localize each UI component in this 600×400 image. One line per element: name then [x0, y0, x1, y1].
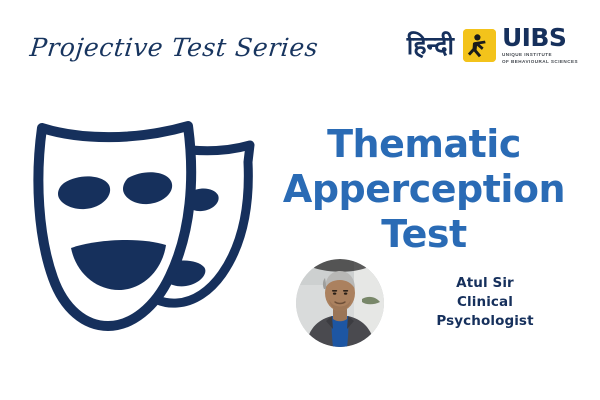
avatar	[296, 259, 384, 347]
presenter-role-line-1: Clinical	[398, 293, 572, 312]
uibs-tagline-line-1: UNIQUE INSTITUTE	[502, 52, 578, 59]
presenter-name: Atul Sir	[398, 274, 572, 293]
uibs-wordmark: UIBS UNIQUE INSTITUTE OF BEHAVIOURAL SCI…	[502, 26, 578, 65]
page-title-line-1: Thematic	[276, 122, 572, 167]
series-title: Projective Test Series	[28, 33, 271, 62]
uibs-tagline-line-2: OF BEHAVIOURAL SCIENCES	[502, 59, 578, 66]
person-figure-icon	[463, 29, 496, 62]
page-title-line-2: Apperception	[276, 167, 572, 212]
page-title: Thematic Apperception Test	[276, 122, 572, 256]
uibs-tagline: UNIQUE INSTITUTE OF BEHAVIOURAL SCIENCES	[502, 52, 578, 65]
brand-logo-lockup: हिन्दी UIBS UNIQUE INSTITUTE OF BEHAVIOU…	[407, 26, 578, 65]
theater-masks-illustration	[24, 100, 288, 340]
presenter-details: Atul Sir Clinical Psychologist	[398, 274, 572, 331]
hindi-language-label: हिन्दी	[407, 33, 454, 58]
page-title-line-3: Test	[276, 212, 572, 257]
presenter-block: Atul Sir Clinical Psychologist	[296, 255, 572, 350]
uibs-logo: UIBS UNIQUE INSTITUTE OF BEHAVIOURAL SCI…	[463, 26, 578, 65]
slide-canvas: Projective Test Series हिन्दी UIBS UNIQU…	[0, 0, 600, 400]
uibs-brand-name: UIBS	[502, 26, 578, 50]
presenter-role-line-2: Psychologist	[398, 312, 572, 331]
